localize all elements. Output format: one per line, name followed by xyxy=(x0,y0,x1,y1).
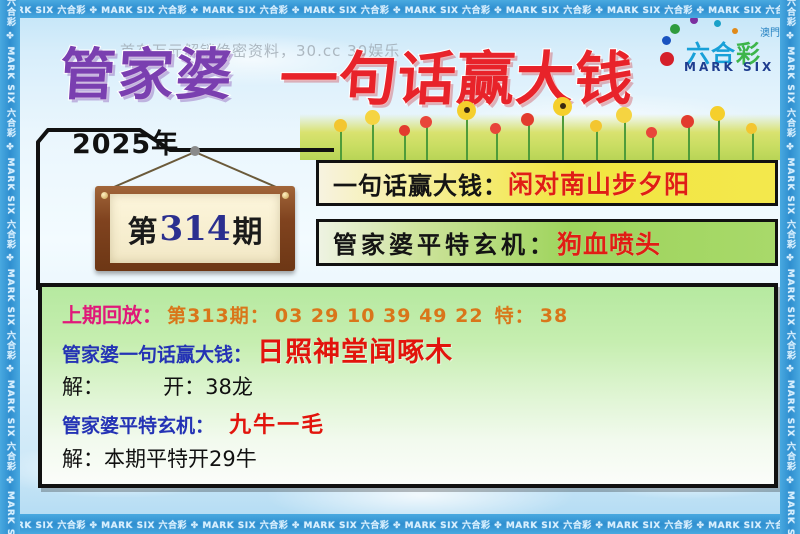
logo-name-en: MARK SIX xyxy=(684,60,774,74)
border-pattern-left: MARK SIX 六合彩 ✤ MARK SIX 六合彩 ✤ MARK SIX 六… xyxy=(0,0,20,534)
flower-petal xyxy=(365,110,380,125)
phrase-value: 日照神堂闻啄木 xyxy=(257,337,453,368)
border-right: MARK SIX 六合彩 ✤ MARK SIX 六合彩 ✤ MARK SIX 六… xyxy=(780,0,800,534)
logo-dot-blue xyxy=(662,36,671,45)
lottery-poster: 首存万元解锁绝密资料，30.cc 30娱乐 管家婆 一句话赢大钱 澳門 六合彩 … xyxy=(0,0,800,534)
flower-petal xyxy=(399,125,410,136)
flower-stem xyxy=(528,124,530,160)
flower-illustration xyxy=(300,88,780,160)
riddle-row: 管家婆平特玄机： 九牛一毛 xyxy=(62,407,325,439)
flower-stem xyxy=(688,126,690,160)
border-left: MARK SIX 六合彩 ✤ MARK SIX 六合彩 ✤ MARK SIX 六… xyxy=(0,0,20,534)
flower-petal xyxy=(420,116,432,128)
flower-stem xyxy=(752,132,754,160)
flower-petal xyxy=(646,127,657,138)
flower-stem xyxy=(624,120,626,160)
banner-phrase: 一句话赢大钱： 闲对南山步夕阳 xyxy=(316,160,778,206)
title-guanjiapo: 管家婆 xyxy=(57,30,237,111)
flower-stem xyxy=(372,122,374,160)
logo-region-label: 澳門 xyxy=(760,24,780,39)
border-bottom: MARK SIX 六合彩 ✤ MARK SIX 六合彩 ✤ MARK SIX 六… xyxy=(0,514,800,534)
phrase-answer-row: 解： 开：38龙 xyxy=(62,371,253,401)
issue-prefix: 第 xyxy=(128,207,158,251)
banner-phrase-value: 闲对南山步夕阳 xyxy=(508,165,690,201)
flower-petal xyxy=(590,120,602,132)
flower-stem xyxy=(596,130,598,160)
banner-riddle-label: 管家婆平特玄机： xyxy=(333,225,557,260)
flower-petal xyxy=(521,113,534,126)
sign-screw-right xyxy=(282,192,289,199)
riddle-label: 管家婆平特玄机： xyxy=(62,415,214,437)
riddle-answer-row: 解：本期平特开29牛 xyxy=(62,443,257,473)
phrase-row: 管家婆一句话赢大钱： 日照神堂闻啄木 xyxy=(62,330,453,369)
logo-dot-red xyxy=(660,52,674,66)
phrase-answer-label: 解： xyxy=(62,375,104,399)
flower-stem xyxy=(652,136,654,160)
banner-phrase-label: 一句话赢大钱： xyxy=(333,166,508,201)
banner-riddle-value: 狗血喷头 xyxy=(557,225,661,261)
issue-number: 314 xyxy=(158,209,233,249)
replay-special-label: 特： xyxy=(495,305,535,327)
banner-riddle: 管家婆平特玄机： 狗血喷头 xyxy=(316,219,778,266)
issue-sign: 第314期 xyxy=(95,186,295,271)
border-pattern-bottom: MARK SIX 六合彩 ✤ MARK SIX 六合彩 ✤ MARK SIX 六… xyxy=(0,518,800,531)
border-pattern-right: MARK SIX 六合彩 ✤ MARK SIX 六合彩 ✤ MARK SIX 六… xyxy=(780,0,800,534)
flower-center xyxy=(560,103,566,109)
replay-row: 上期回放： 第313期： 03 29 10 39 49 22 特： 38 xyxy=(62,299,568,328)
mark-six-logo: 澳門 六合彩 MARK SIX xyxy=(656,14,784,78)
replay-special-number: 38 xyxy=(540,305,568,327)
logo-dot-green xyxy=(670,24,680,34)
flower-stem xyxy=(466,116,468,160)
replay-issue: 第313期： xyxy=(167,305,270,327)
flower-petal xyxy=(681,115,694,128)
flower-stem xyxy=(404,134,406,160)
flower-stem xyxy=(340,130,342,160)
flower-stem xyxy=(718,118,720,160)
flower-center xyxy=(464,107,470,113)
issue-suffix: 期 xyxy=(232,207,262,251)
flower-petal xyxy=(334,119,347,132)
sign-paper: 第314期 xyxy=(110,194,280,263)
flower-stem xyxy=(426,126,428,160)
flower-stem xyxy=(562,112,564,160)
phrase-label: 管家婆一句话赢大钱： xyxy=(62,344,252,366)
content-box: 上期回放： 第313期： 03 29 10 39 49 22 特： 38 管家婆… xyxy=(38,283,778,488)
replay-label: 上期回放： xyxy=(62,303,162,327)
flower-petal xyxy=(490,123,501,134)
riddle-answer-label: 解：本期平特开29牛 xyxy=(62,447,257,471)
sign-screw-left xyxy=(101,192,108,199)
replay-numbers: 03 29 10 39 49 22 xyxy=(275,305,484,327)
flower-petal xyxy=(746,123,757,134)
issue-number-text: 第314期 xyxy=(110,194,280,263)
border-top: MARK SIX 六合彩 ✤ MARK SIX 六合彩 ✤ MARK SIX 六… xyxy=(0,0,800,18)
flower-petal xyxy=(616,107,632,123)
flower-stem xyxy=(496,132,498,160)
riddle-value: 九牛一毛 xyxy=(229,413,325,438)
logo-dot-cyan xyxy=(714,20,721,27)
phrase-answer-value: 开：38龙 xyxy=(163,375,253,399)
flower-petal xyxy=(710,106,725,121)
border-pattern-top: MARK SIX 六合彩 ✤ MARK SIX 六合彩 ✤ MARK SIX 六… xyxy=(0,3,800,16)
